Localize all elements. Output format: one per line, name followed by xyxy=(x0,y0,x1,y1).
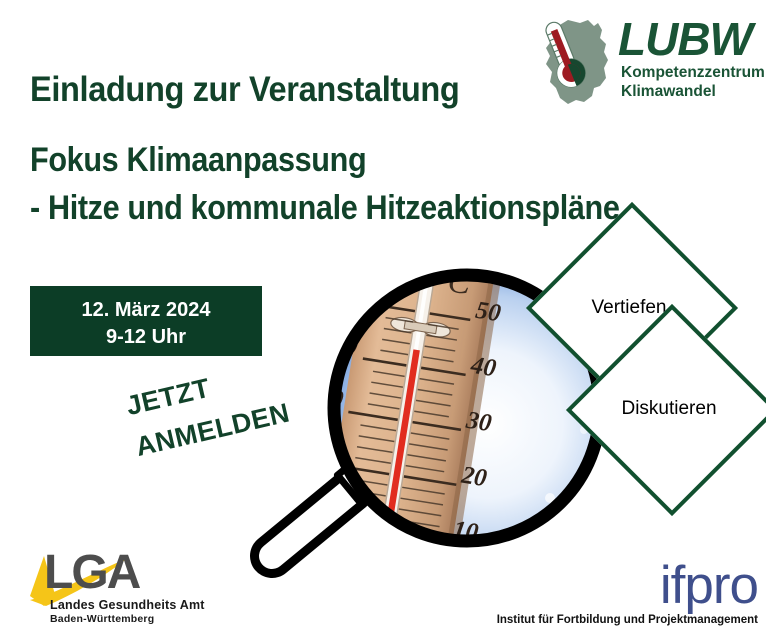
svg-text:0: 0 xyxy=(443,570,460,578)
diamond-label-diskutieren: Diskutieren xyxy=(598,398,740,420)
lubw-subtitle-line-1: Kompetenzzentrum xyxy=(621,64,765,83)
svg-text:20: 20 xyxy=(301,436,331,467)
svg-text:50: 50 xyxy=(474,297,503,328)
event-time: 9-12 Uhr xyxy=(30,326,262,349)
lga-subtitle-line-1: Landes Gesundheits Amt xyxy=(50,598,205,612)
lubw-subtitle-line-2: Klimawandel xyxy=(621,83,765,102)
date-time-box: 12. März 2024 9-12 Uhr xyxy=(30,286,262,356)
ifpro-wordmark: ifpro xyxy=(660,558,758,614)
subtitle-line-1: Fokus Klimaanpassung xyxy=(30,140,366,180)
event-date: 12. März 2024 xyxy=(30,299,262,322)
lubw-wordmark: LUBW xyxy=(618,14,752,64)
subtitle-line-2: - Hitze und kommunale Hitzeaktionspläne xyxy=(30,188,620,228)
page-title: Einladung zur Veranstaltung xyxy=(30,70,459,110)
svg-text:°: ° xyxy=(381,268,389,273)
lga-subtitle-line-2: Baden-Württemberg xyxy=(50,613,154,625)
svg-text:40: 40 xyxy=(468,352,498,383)
lga-logo: LGA Landes Gesundheits Amt Baden-Württem… xyxy=(22,548,202,628)
ifpro-logo: ifpro Institut für Fortbildung und Proje… xyxy=(520,558,762,630)
event-invitation-poster: Einladung zur Veranstaltung Fokus Klimaa… xyxy=(0,0,766,641)
ifpro-subtitle: Institut für Fortbildung und Projektmana… xyxy=(497,614,758,626)
lga-wordmark: LGA xyxy=(44,548,139,598)
thermometer-map-icon xyxy=(536,16,618,108)
svg-text:20: 20 xyxy=(459,462,489,493)
svg-text:50: 50 xyxy=(345,276,374,307)
lubw-subtitle: Kompetenzzentrum Klimawandel xyxy=(621,64,765,101)
svg-text:30: 30 xyxy=(463,407,493,438)
lubw-logo: LUBW Kompetenzzentrum Klimawandel xyxy=(536,16,760,112)
